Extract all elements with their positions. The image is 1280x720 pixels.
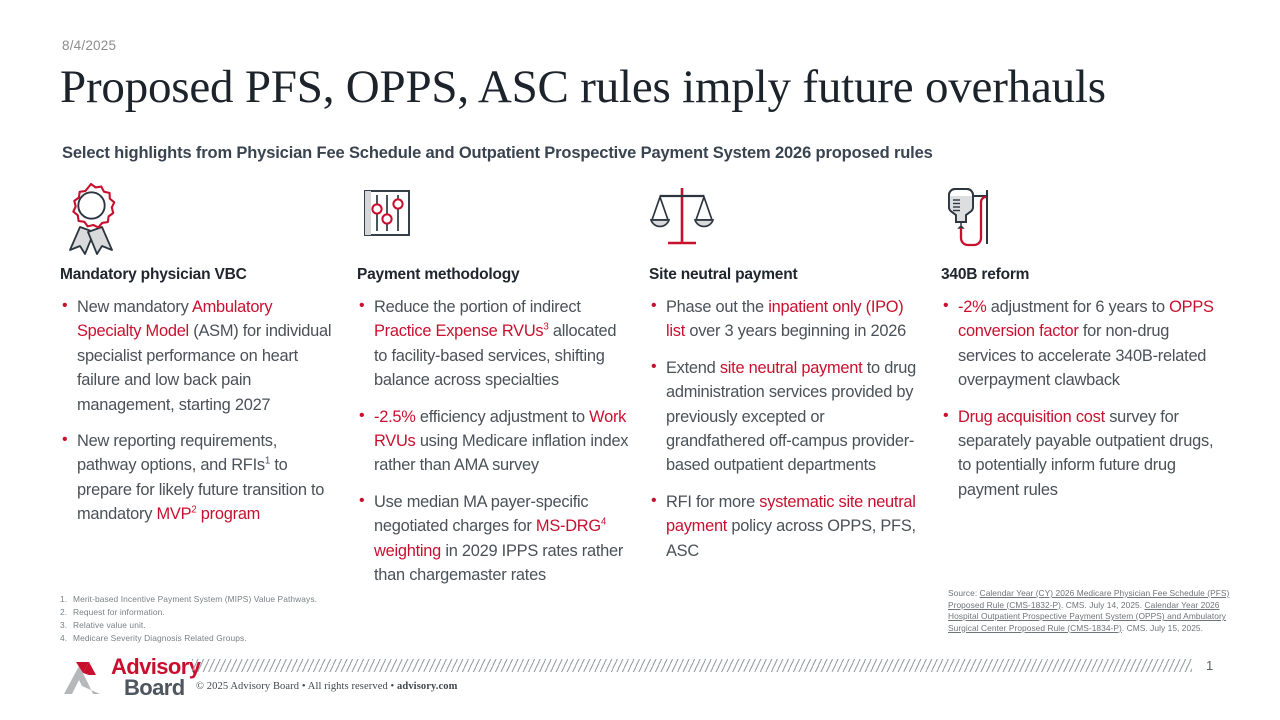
list-item: -2% adjustment for 6 years to OPPS conve… xyxy=(941,295,1223,393)
footnotes: 1.Merit-based Incentive Payment System (… xyxy=(60,593,360,645)
column-heading: Site neutral payment xyxy=(649,266,941,284)
footnote-number: 2. xyxy=(60,606,73,619)
copyright-text: © 2025 Advisory Board • All rights reser… xyxy=(196,681,457,692)
footnote-text: Request for information. xyxy=(73,607,165,617)
sliders-settings-icon xyxy=(357,180,649,256)
list-item: Phase out the inpatient only (IPO) list … xyxy=(649,295,925,344)
footnote-text: Medicare Severity Diagnosis Related Grou… xyxy=(73,633,247,643)
column-site-neutral-payment: Site neutral payment Phase out the inpat… xyxy=(649,180,941,599)
footnote-item: 2.Request for information. xyxy=(60,606,360,619)
list-item: -2.5% efficiency adjustment to Work RVUs… xyxy=(357,405,629,478)
footnote-item: 3.Relative value unit. xyxy=(60,619,360,632)
footnote-text: Relative value unit. xyxy=(73,620,146,630)
column-mandatory-physician-vbc: Mandatory physician VBC New mandatory Am… xyxy=(60,180,357,599)
column-payment-methodology: Payment methodology Reduce the portion o… xyxy=(357,180,649,599)
footnote-item: 1.Merit-based Incentive Payment System (… xyxy=(60,593,360,606)
column-340b-reform: 340B reform -2% adjustment for 6 years t… xyxy=(941,180,1235,599)
column-heading: 340B reform xyxy=(941,266,1235,284)
award-ribbon-icon xyxy=(60,180,357,256)
bullet-list: Phase out the inpatient only (IPO) list … xyxy=(649,295,941,563)
list-item: Extend site neutral payment to drug admi… xyxy=(649,356,925,478)
advisory-board-logo: Advisory Board xyxy=(62,657,200,698)
columns-container: Mandatory physician VBC New mandatory Am… xyxy=(60,180,1235,599)
bullet-list: -2% adjustment for 6 years to OPPS conve… xyxy=(941,295,1235,502)
footnote-item: 4.Medicare Severity Diagnosis Related Gr… xyxy=(60,632,360,645)
hatch-divider xyxy=(192,659,1192,672)
column-heading: Payment methodology xyxy=(357,266,649,284)
footnote-number: 3. xyxy=(60,619,73,632)
column-heading: Mandatory physician VBC xyxy=(60,266,357,284)
page-number: 1 xyxy=(1206,658,1213,673)
source-citation: Source: Calendar Year (CY) 2026 Medicare… xyxy=(948,588,1233,634)
page-title: Proposed PFS, OPPS, ASC rules imply futu… xyxy=(60,60,1240,114)
list-item: Use median MA payer-specific negotiated … xyxy=(357,490,629,588)
list-item: Reduce the portion of indirect Practice … xyxy=(357,295,629,393)
list-item: New mandatory Ambulatory Specialty Model… xyxy=(60,295,332,417)
iv-drip-icon xyxy=(941,180,1235,256)
list-item: RFI for more systematic site neutral pay… xyxy=(649,490,925,563)
list-item: Drug acquisition cost survey for separat… xyxy=(941,405,1223,503)
logo-wordmark: Advisory Board xyxy=(111,657,200,698)
footnote-number: 1. xyxy=(60,593,73,606)
footnote-number: 4. xyxy=(60,632,73,645)
page-subtitle: Select highlights from Physician Fee Sch… xyxy=(62,144,1232,163)
bullet-list: Reduce the portion of indirect Practice … xyxy=(357,295,649,587)
list-item: New reporting requirements, pathway opti… xyxy=(60,429,332,527)
footnote-text: Merit-based Incentive Payment System (MI… xyxy=(73,594,317,604)
bullet-list: New mandatory Ambulatory Specialty Model… xyxy=(60,295,357,527)
logo-line-2: Board xyxy=(124,678,200,699)
slide-date: 8/4/2025 xyxy=(62,38,116,53)
balance-scales-icon xyxy=(649,180,941,256)
logo-mark-icon xyxy=(62,660,108,696)
slide: 8/4/2025 Proposed PFS, OPPS, ASC rules i… xyxy=(0,0,1280,720)
